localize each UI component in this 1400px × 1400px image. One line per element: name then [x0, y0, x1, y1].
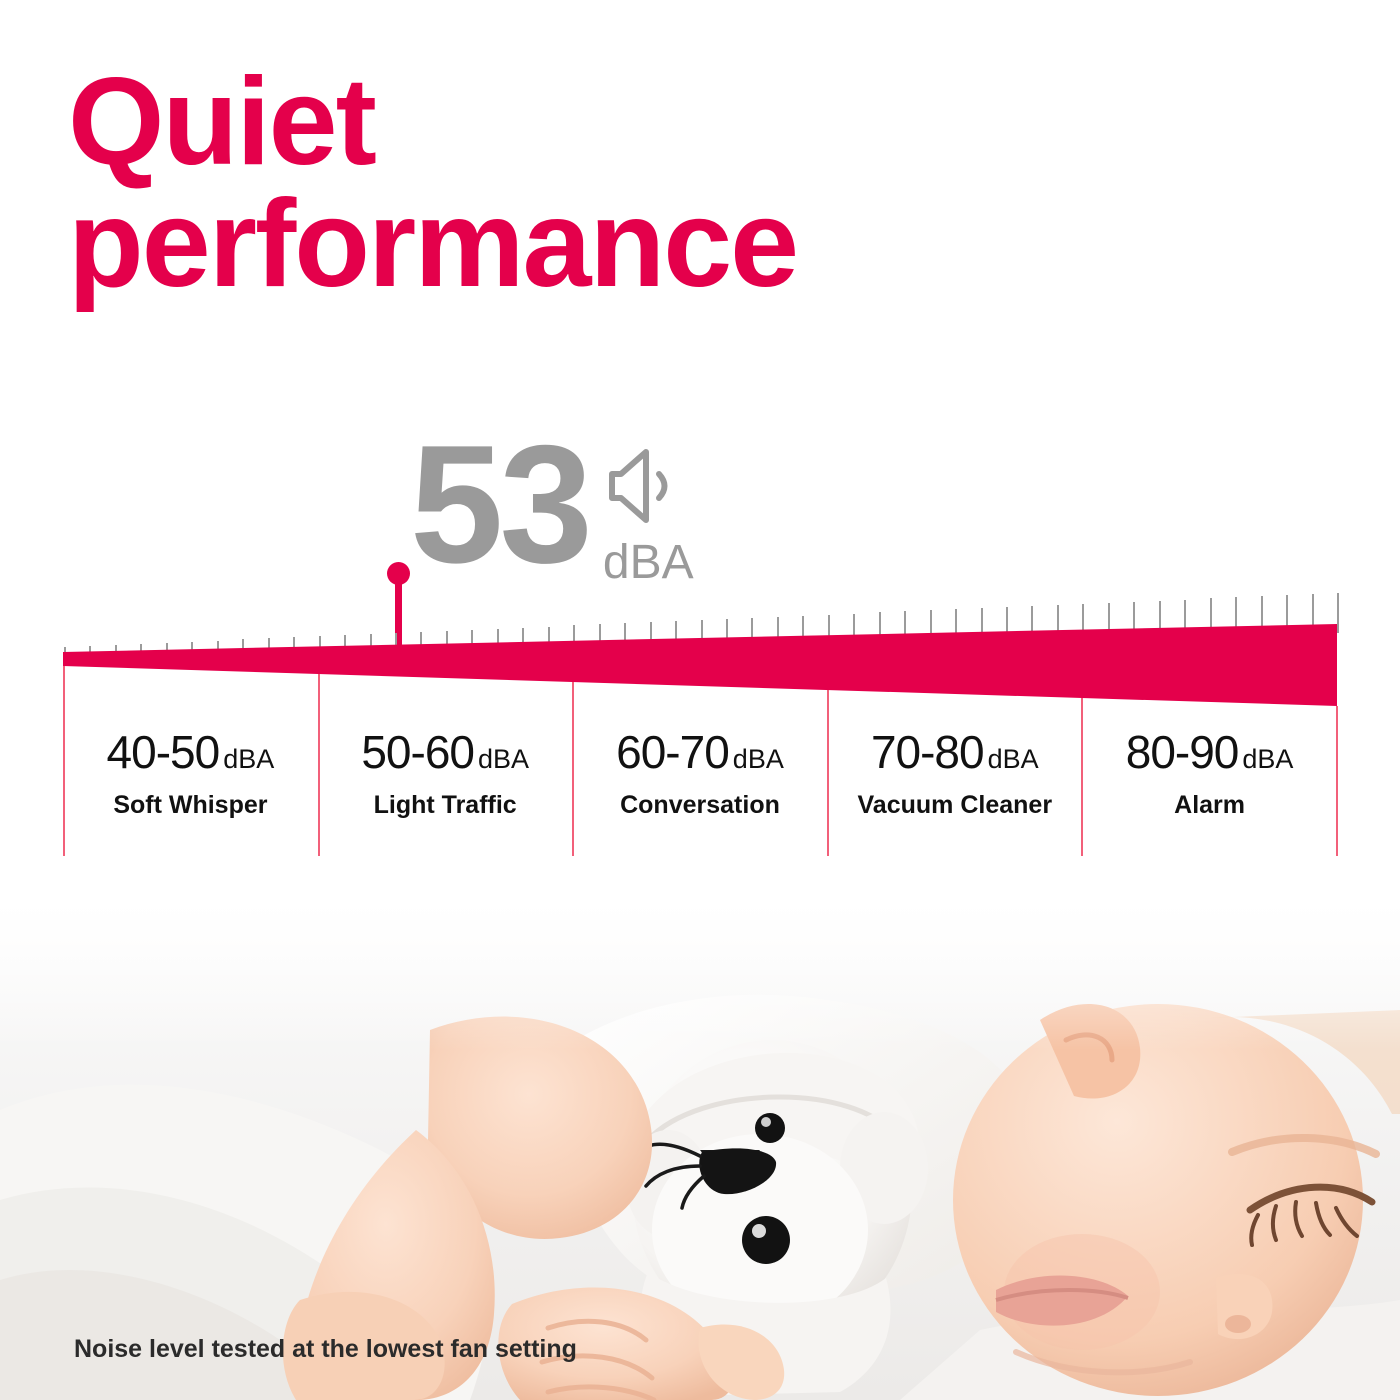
scale-category-list: 40-50dBASoft Whisper50-60dBALight Traffi… [63, 725, 1337, 820]
headline-line-1: Quiet [68, 62, 1068, 184]
noise-value: 53 [410, 434, 589, 575]
baby-photo [0, 900, 1400, 1400]
speaker-volume-icon [606, 446, 690, 535]
noise-unit-label: dBA [603, 539, 694, 587]
noise-readout: 53 dBA [410, 434, 694, 587]
category-label: Soft Whisper [63, 791, 318, 820]
category-unit: dBA [223, 744, 274, 774]
photo-caption: Noise level tested at the lowest fan set… [74, 1335, 577, 1364]
scale-category-4: 70-80dBAVacuum Cleaner [827, 725, 1082, 820]
scale-category-5: 80-90dBAAlarm [1082, 725, 1337, 820]
scale-category-2: 50-60dBALight Traffic [318, 725, 573, 820]
headline-line-2: performance [68, 184, 1068, 306]
category-unit: dBA [478, 744, 529, 774]
category-label: Vacuum Cleaner [827, 791, 1082, 820]
baby-photo-illustration [0, 900, 1400, 1400]
page-title: Quiet performance [68, 62, 1068, 305]
category-range: 70-80dBA [827, 725, 1082, 779]
category-label: Alarm [1082, 791, 1337, 820]
scale-category-3: 60-70dBAConversation [573, 725, 828, 820]
category-range: 60-70dBA [573, 725, 828, 779]
category-label: Conversation [573, 791, 828, 820]
category-range: 50-60dBA [318, 725, 573, 779]
category-label: Light Traffic [318, 791, 573, 820]
category-unit: dBA [988, 744, 1039, 774]
scale-category-1: 40-50dBASoft Whisper [63, 725, 318, 820]
infographic-page: Quiet performance 53 dBA 40-50dBASoft Wh… [0, 0, 1400, 1400]
category-unit: dBA [1242, 744, 1293, 774]
noise-unit-group: dBA [603, 446, 694, 587]
category-range: 40-50dBA [63, 725, 318, 779]
category-unit: dBA [733, 744, 784, 774]
category-range: 80-90dBA [1082, 725, 1337, 779]
